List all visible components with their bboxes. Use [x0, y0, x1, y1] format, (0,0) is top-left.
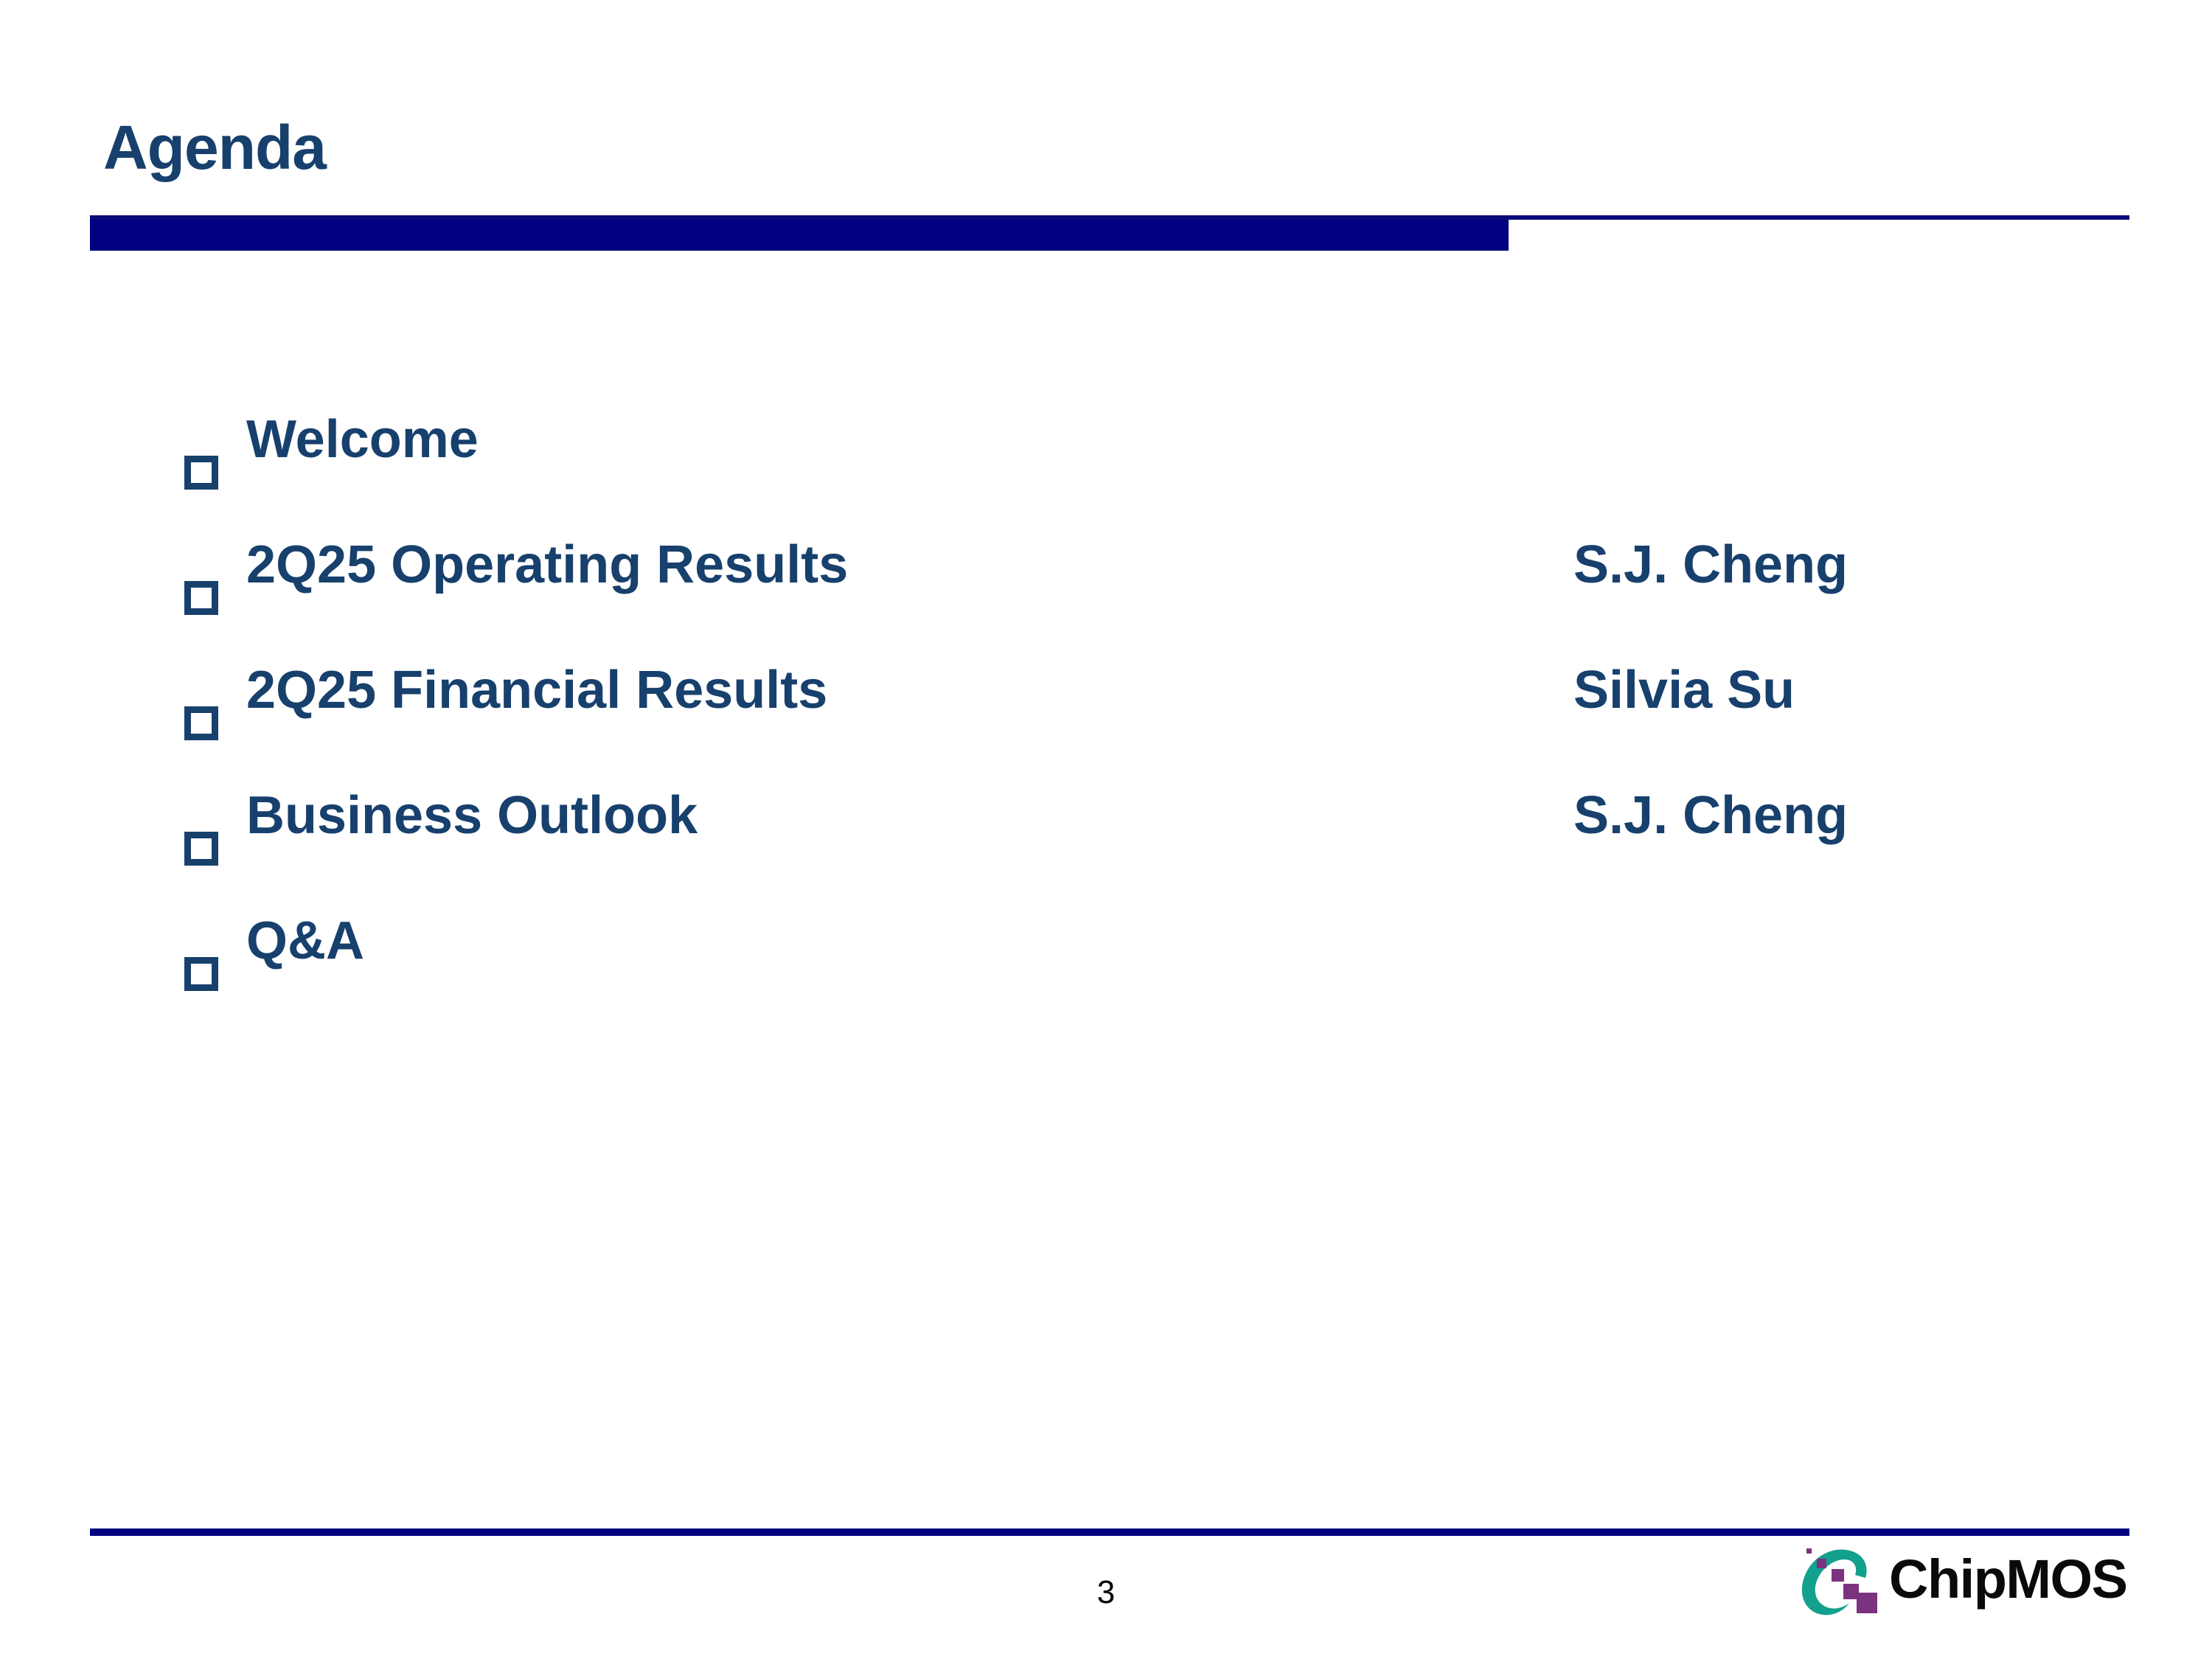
agenda-item-label: Q&A [246, 914, 1573, 967]
hollow-square-bullet-icon [184, 456, 218, 490]
chipmos-logo: ChipMOS [1798, 1543, 2126, 1622]
list-item: Welcome [184, 413, 2028, 538]
chipmos-swirl-icon [1798, 1545, 1885, 1619]
list-item: Business Outlook S.J. Cheng [184, 789, 2028, 914]
hollow-square-bullet-icon [184, 832, 218, 866]
hollow-square-bullet-icon [184, 581, 218, 615]
list-item: 2Q25 Financial Results Silvia Su [184, 664, 2028, 789]
title-divider-thick [90, 220, 1509, 251]
agenda-list: Welcome 2Q25 Operating Results S.J. Chen… [184, 413, 2028, 1040]
chipmos-wordmark: ChipMOS [1889, 1552, 2126, 1607]
agenda-item-label: 2Q25 Financial Results [246, 664, 1573, 717]
agenda-item-label: Business Outlook [246, 789, 1573, 842]
list-item: 2Q25 Operating Results S.J. Cheng [184, 538, 2028, 664]
agenda-item-label: Welcome [246, 413, 1573, 466]
hollow-square-bullet-icon [184, 706, 218, 740]
agenda-item-label: 2Q25 Operating Results [246, 538, 1573, 591]
agenda-item-speaker: Silvia Su [1573, 664, 1795, 717]
footer-divider [90, 1528, 2129, 1536]
agenda-item-speaker: S.J. Cheng [1573, 789, 1848, 842]
agenda-item-speaker: S.J. Cheng [1573, 538, 1848, 591]
list-item: Q&A [184, 914, 2028, 1040]
slide-canvas: Agenda Welcome 2Q25 Operating Results S.… [0, 0, 2212, 1659]
hollow-square-bullet-icon [184, 957, 218, 991]
page-title: Agenda [103, 116, 326, 178]
